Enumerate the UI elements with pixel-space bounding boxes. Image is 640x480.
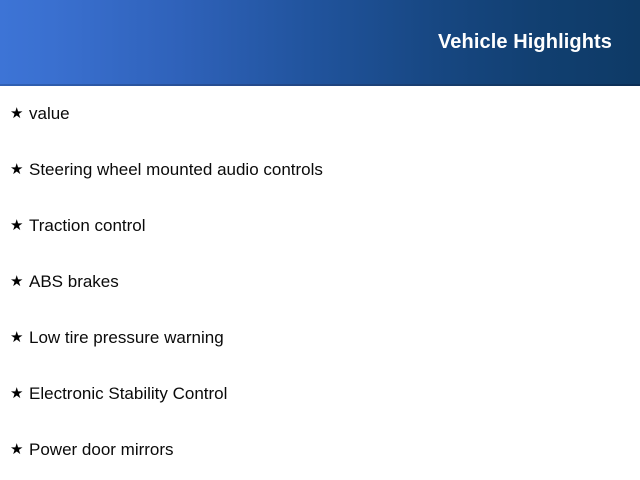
vehicle-highlights-page: Vehicle Highlights ★ value ★ Steering wh…	[0, 0, 640, 480]
page-title: Vehicle Highlights	[438, 0, 612, 84]
list-item: ★ Power door mirrors	[0, 422, 640, 478]
list-item-label: Traction control	[29, 216, 146, 236]
list-item: ★ ABS brakes	[0, 254, 640, 310]
list-item-label: ABS brakes	[29, 272, 119, 292]
list-item-label: Low tire pressure warning	[29, 328, 224, 348]
list-item-label: Power door mirrors	[29, 440, 174, 460]
star-icon: ★	[10, 442, 29, 457]
list-item-label: Steering wheel mounted audio controls	[29, 160, 323, 180]
star-icon: ★	[10, 106, 29, 121]
star-icon: ★	[10, 162, 29, 177]
list-item: ★ Low tire pressure warning	[0, 310, 640, 366]
star-icon: ★	[10, 218, 29, 233]
list-item-label: value	[29, 104, 70, 124]
list-item: ★ Steering wheel mounted audio controls	[0, 142, 640, 198]
header-banner: Vehicle Highlights	[0, 0, 640, 86]
list-item: ★ Traction control	[0, 198, 640, 254]
list-item-label: Electronic Stability Control	[29, 384, 227, 404]
star-icon: ★	[10, 330, 29, 345]
list-item: ★ value	[0, 86, 640, 142]
list-item: ★ Electronic Stability Control	[0, 366, 640, 422]
star-icon: ★	[10, 274, 29, 289]
star-icon: ★	[10, 386, 29, 401]
vehicle-highlights-list: ★ value ★ Steering wheel mounted audio c…	[0, 86, 640, 478]
